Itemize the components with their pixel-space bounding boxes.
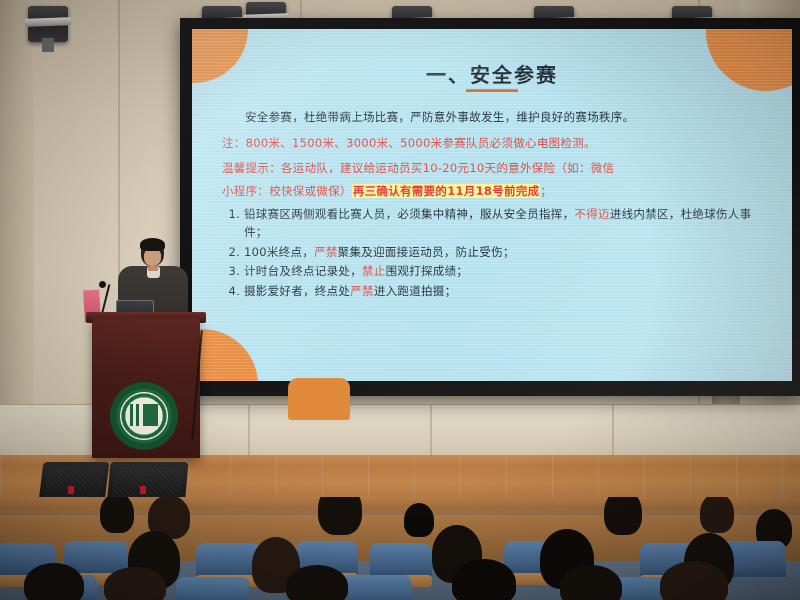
audience-head [104,567,166,600]
slide-rule-list: 铅球赛区两侧观看比赛人员，必须集中精神，服从安全员指挥，不得迈进线内禁区，杜绝球… [222,205,768,301]
monitor-led-icon [68,486,74,494]
item-text-a: 摄影爱好者，终点处 [244,284,350,298]
item-emphasis: 不得迈 [574,207,609,221]
audience-head [318,497,362,535]
audience-head [452,559,516,600]
item-text-a: 计时台及终点记录处， [244,264,362,278]
slide-body: 安全参赛，杜绝带病上场比赛，严防意外事故发生，维护良好的赛场秩序。 注：800米… [222,109,768,302]
audience-head [24,563,84,600]
title-underline-rule [466,89,518,92]
list-item: 铅球赛区两侧观看比赛人员，必须集中精神，服从安全员指挥，不得迈进线内禁区，杜绝球… [244,205,768,242]
speaker-hair [140,238,165,251]
stage-chair [288,378,350,420]
item-emphasis: 严禁 [314,245,338,259]
wainscot-seam [248,405,250,457]
slide-lead-paragraph: 安全参赛，杜绝带病上场比赛，严防意外事故发生，维护良好的赛场秩序。 [222,109,768,126]
audience-area [0,497,800,600]
auditorium-seat [340,575,412,600]
crest-building-motif [130,404,158,426]
wainscot-seam [612,405,614,457]
item-emphasis: 禁止 [362,264,386,278]
audience-head [286,565,348,600]
audience-head [560,565,622,600]
auditorium-scene: 一、安全参赛 安全参赛，杜绝带病上场比赛，严防意外事故发生，维护良好的赛场秩序。… [0,0,800,600]
slide-note-line: 注：800米、1500米、3000米、5000米参赛队员必须做心电图检测。 [222,135,768,152]
auditorium-seat [370,543,432,577]
list-item: 计时台及终点记录处，禁止围观打探成绩； [244,262,768,281]
tip-highlight-text: 再三确认有需要的11月18号前完成 [352,184,541,198]
item-text-b: 进入跑道拍摄； [374,284,457,298]
item-text-a: 铅球赛区两侧观看比赛人员，必须集中精神，服从安全员指挥， [244,207,574,221]
slide-tip-line-2: 小程序：校快保或微保）再三确认有需要的11月18号前完成； [222,182,768,201]
audience-head [404,503,434,537]
slide-tip-line-1: 温馨提示：各运动队，建议给运动员买10-20元10天的意外保险（如：微信 [222,159,768,178]
list-item: 100米终点，严禁聚集及迎面接运动员，防止受伤； [244,243,768,262]
presentation-screen[interactable]: 一、安全参赛 安全参赛，杜绝带病上场比赛，严防意外事故发生，维护良好的赛场秩序。… [192,29,792,381]
auditorium-seat [176,577,250,600]
item-emphasis: 严禁 [350,284,374,298]
slide-title: 一、安全参赛 [192,59,792,88]
item-text-a: 100米终点， [244,245,314,259]
item-text-b: 聚集及迎面接运动员，防止受伤； [338,245,515,259]
audience-head [700,497,734,533]
stage-light [22,0,74,44]
tip-suffix-text: ； [540,184,552,198]
audience-head [100,497,134,533]
item-text-b: 围观打探成绩； [386,264,469,278]
tip-second-text: 小程序：校快保或微保） [222,184,352,198]
microphone-icon [99,281,106,288]
list-item: 摄影爱好者，终点处严禁进入跑道拍摄； [244,282,768,301]
monitor-led-icon [140,486,146,494]
wainscot-seam [430,405,432,457]
wall-seam [300,0,302,20]
audience-head [604,497,642,535]
